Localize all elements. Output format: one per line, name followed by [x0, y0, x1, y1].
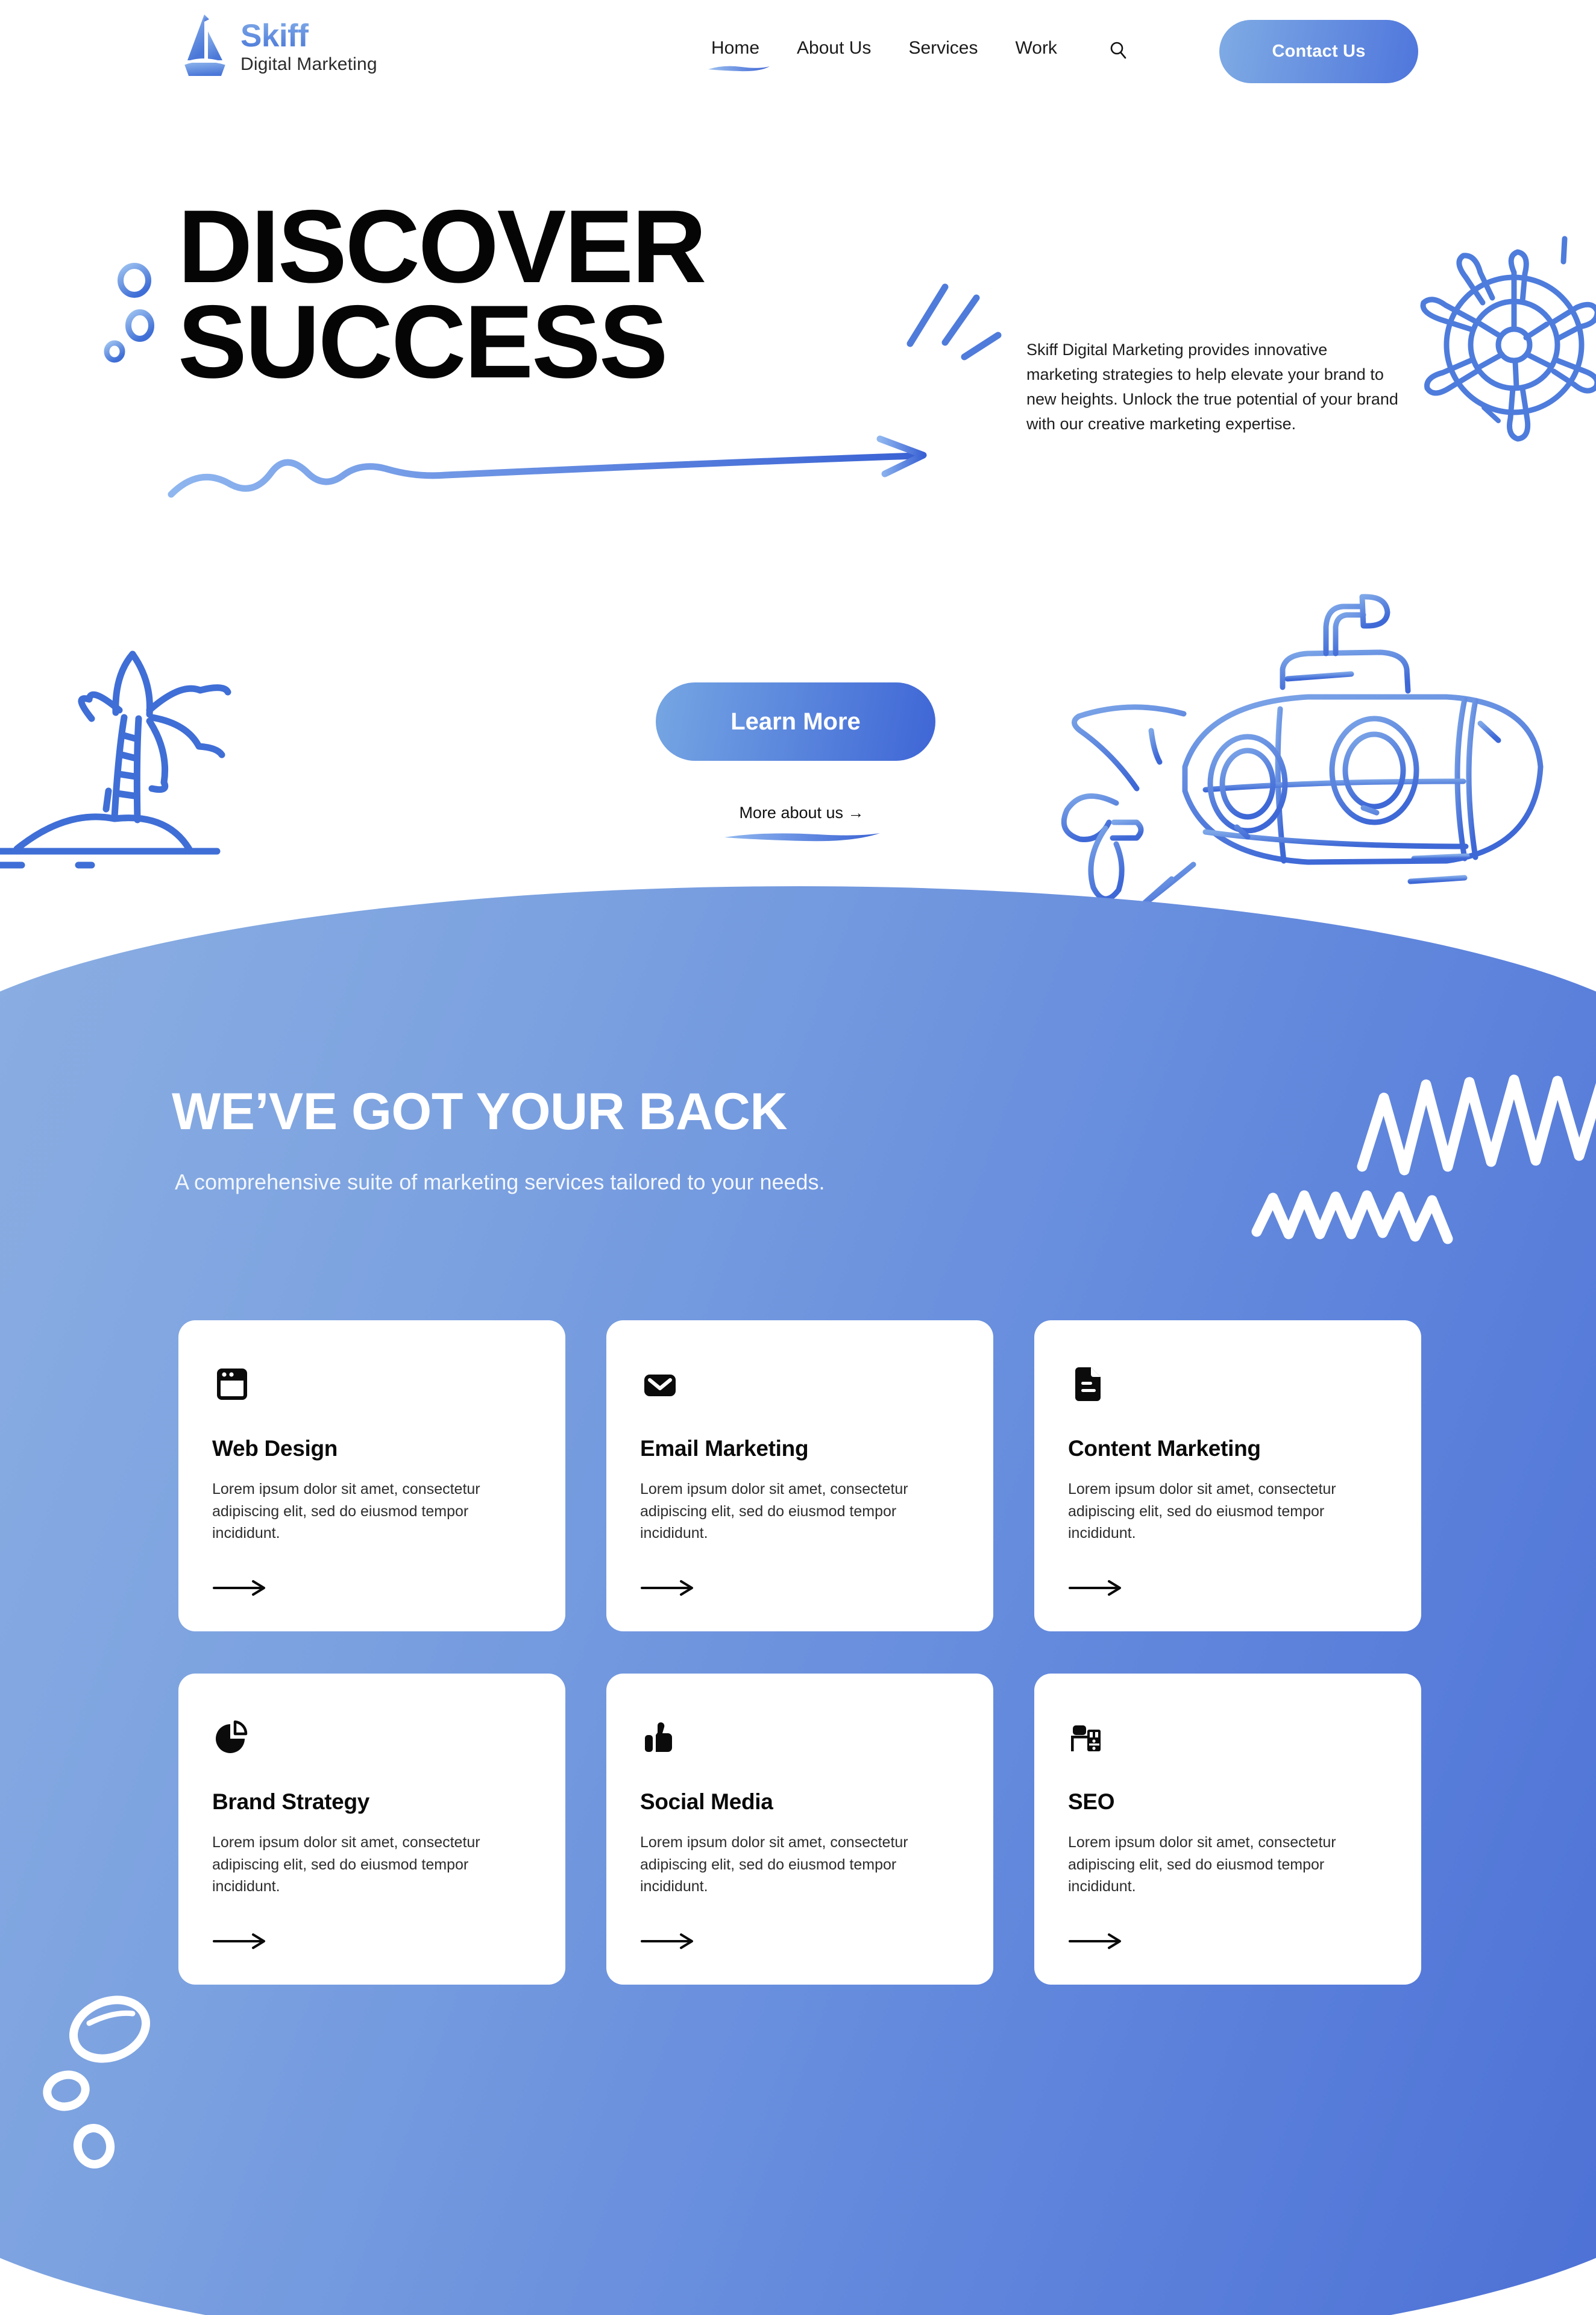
sparkle-icon [892, 277, 1007, 374]
hero-description: Skiff Digital Marketing provides innovat… [1026, 338, 1403, 436]
hero-section: DISCOVER SUCCESS Skiff Digital Marketing… [0, 102, 1596, 904]
envelope-icon [640, 1355, 960, 1405]
services-heading: WE’VE GOT YOUR BACK [172, 1082, 787, 1142]
desk-computer-icon [1068, 1709, 1387, 1758]
card-title: SEO [1068, 1789, 1387, 1815]
card-description: Lorem ipsum dolor sit amet, consectetur … [212, 1832, 532, 1898]
pie-chart-icon [212, 1709, 532, 1758]
card-description: Lorem ipsum dolor sit amet, consectetur … [640, 1832, 960, 1898]
service-card-content-marketing[interactable]: Content Marketing Lorem ipsum dolor sit … [1034, 1320, 1421, 1631]
page-title: DISCOVER SUCCESS [178, 199, 705, 389]
card-row: Brand Strategy Lorem ipsum dolor sit ame… [178, 1674, 1422, 1985]
sailboat-icon [178, 13, 230, 80]
nav-item-services[interactable]: Services [908, 38, 978, 62]
site-header: Skiff Digital Marketing Home About Us Se… [0, 0, 1596, 102]
services-subheading: A comprehensive suite of marketing servi… [175, 1167, 838, 1198]
card-row: Web Design Lorem ipsum dolor sit amet, c… [178, 1320, 1422, 1631]
thumbs-up-icon [640, 1709, 960, 1758]
main-navigation: Home About Us Services Work [711, 36, 1132, 64]
card-title: Web Design [212, 1436, 532, 1461]
card-title: Email Marketing [640, 1436, 960, 1461]
arrow-right-icon[interactable] [212, 1580, 268, 1596]
nav-item-about-us[interactable]: About Us [797, 38, 871, 62]
search-icon[interactable] [1104, 36, 1132, 64]
nav-item-home[interactable]: Home [711, 38, 759, 62]
card-title: Social Media [640, 1789, 960, 1815]
link-underline [721, 829, 884, 847]
landing-page: Skiff Digital Marketing Home About Us Se… [0, 0, 1596, 2315]
brand-logo[interactable]: Skiff Digital Marketing [178, 13, 377, 80]
arrow-right-icon[interactable] [212, 1933, 268, 1950]
ships-wheel-icon [1410, 211, 1596, 470]
learn-more-button[interactable]: Learn More [656, 682, 935, 761]
card-title: Content Marketing [1068, 1436, 1387, 1461]
brand-text: Skiff Digital Marketing [240, 20, 377, 74]
document-icon [1068, 1355, 1387, 1405]
arrow-right-icon[interactable] [1068, 1580, 1123, 1596]
active-nav-underline [706, 64, 771, 74]
card-description: Lorem ipsum dolor sit amet, consectetur … [640, 1478, 960, 1545]
service-card-web-design[interactable]: Web Design Lorem ipsum dolor sit amet, c… [178, 1320, 565, 1631]
service-card-seo[interactable]: SEO Lorem ipsum dolor sit amet, consecte… [1034, 1674, 1421, 1985]
arrow-squiggle-icon [163, 435, 946, 502]
service-card-brand-strategy[interactable]: Brand Strategy Lorem ipsum dolor sit ame… [178, 1674, 565, 1985]
card-description: Lorem ipsum dolor sit amet, consectetur … [1068, 1478, 1387, 1545]
card-description: Lorem ipsum dolor sit amet, consectetur … [212, 1478, 532, 1545]
service-card-email-marketing[interactable]: Email Marketing Lorem ipsum dolor sit am… [606, 1320, 993, 1631]
browser-window-icon [212, 1355, 532, 1405]
submarine-icon [1025, 579, 1567, 928]
brand-name: Skiff [240, 20, 377, 52]
hero-title-line-2: SUCCESS [178, 284, 667, 400]
contact-us-button[interactable]: Contact Us [1219, 20, 1418, 83]
arrow-right-icon[interactable] [640, 1580, 696, 1596]
card-description: Lorem ipsum dolor sit amet, consectetur … [1068, 1832, 1387, 1898]
service-card-social-media[interactable]: Social Media Lorem ipsum dolor sit amet,… [606, 1674, 993, 1985]
services-card-grid: Web Design Lorem ipsum dolor sit amet, c… [178, 1320, 1422, 1985]
nav-item-work[interactable]: Work [1015, 38, 1057, 62]
bubbles-icon [90, 262, 187, 371]
card-title: Brand Strategy [212, 1789, 532, 1815]
palm-island-icon [0, 639, 247, 880]
more-about-us-link[interactable]: More about us → [720, 804, 883, 822]
arrow-right-icon[interactable] [640, 1933, 696, 1950]
arrow-right-icon[interactable] [1068, 1933, 1123, 1950]
brand-tagline: Digital Marketing [240, 55, 377, 74]
